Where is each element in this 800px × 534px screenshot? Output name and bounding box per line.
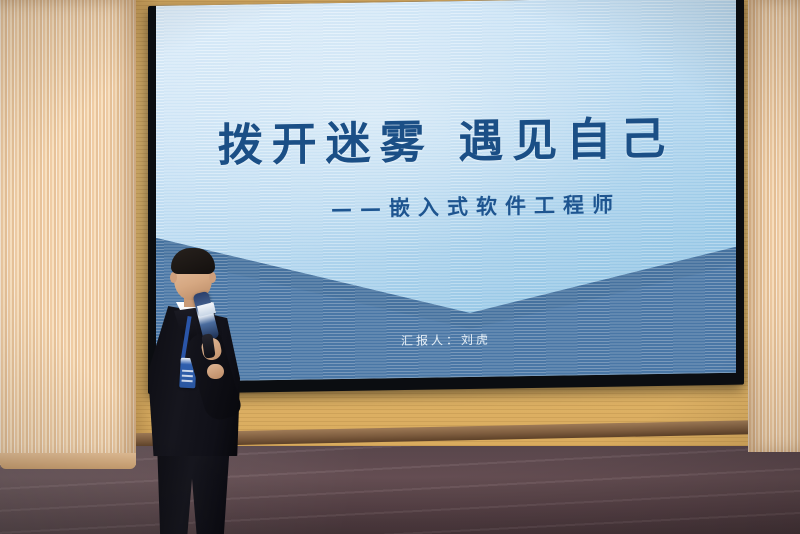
curtain-left bbox=[0, 0, 136, 465]
curtain-left-hem bbox=[0, 453, 136, 469]
badge-text-line bbox=[182, 380, 193, 383]
speaker-figure bbox=[140, 246, 250, 534]
badge-text-line bbox=[182, 370, 193, 373]
speaker-hair bbox=[171, 248, 215, 274]
slide-title: 拨开迷雾 遇见自己 bbox=[156, 101, 736, 175]
badge-text-line bbox=[182, 375, 193, 378]
curtain-right bbox=[748, 0, 800, 452]
photo-scene: 拨开迷雾 遇见自己 ——嵌入式软件工程师 汇报人：刘虎 bbox=[0, 0, 800, 534]
speaker-hand-lower bbox=[207, 364, 224, 379]
